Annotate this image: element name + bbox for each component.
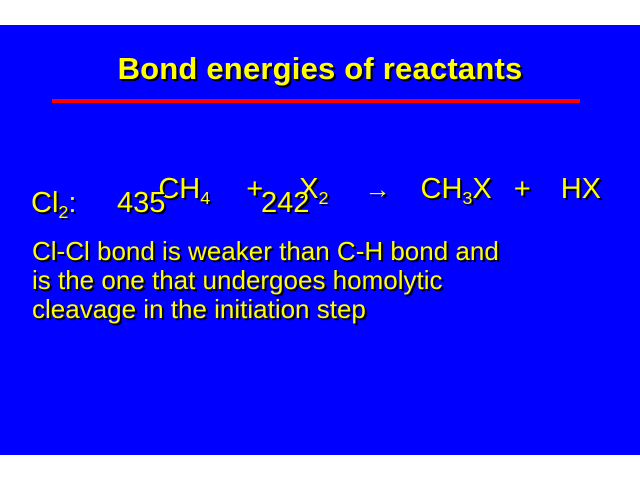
page-title: Bond energies of reactants xyxy=(0,52,640,86)
body-line: Cl-Cl bond is weaker than C-H bond and xyxy=(32,237,612,266)
body-paragraph: Cl-Cl bond is weaker than C-H bond and i… xyxy=(32,237,612,324)
equation-product-halomethane-x: X xyxy=(472,173,491,205)
subscript-4: 4 xyxy=(200,188,210,208)
label-chlorine: Cl xyxy=(31,187,58,219)
subscript-2: 2 xyxy=(319,188,329,208)
label-colon: : xyxy=(68,187,76,219)
body-line: cleavage in the initiation step xyxy=(32,295,612,324)
title-underline-rule xyxy=(52,99,580,103)
body-line: is the one that undergoes homolytic xyxy=(32,266,612,295)
subscript-2: 2 xyxy=(58,202,68,222)
subscript-3: 3 xyxy=(462,188,472,208)
equation-product-hydrogen-halide: HX xyxy=(561,173,601,205)
equation-plus-2: + xyxy=(514,173,531,205)
bond-energy-label: Cl2: xyxy=(31,186,76,220)
bond-energy-value-clcl: 242 xyxy=(261,186,309,220)
reaction-arrow-icon: → xyxy=(365,174,391,204)
bond-energy-value-ch: 435 xyxy=(117,186,165,220)
slide-canvas: Bond energies of reactants CH4+X2→CH3X+H… xyxy=(0,25,640,455)
equation-product-halomethane: CH xyxy=(421,173,463,205)
